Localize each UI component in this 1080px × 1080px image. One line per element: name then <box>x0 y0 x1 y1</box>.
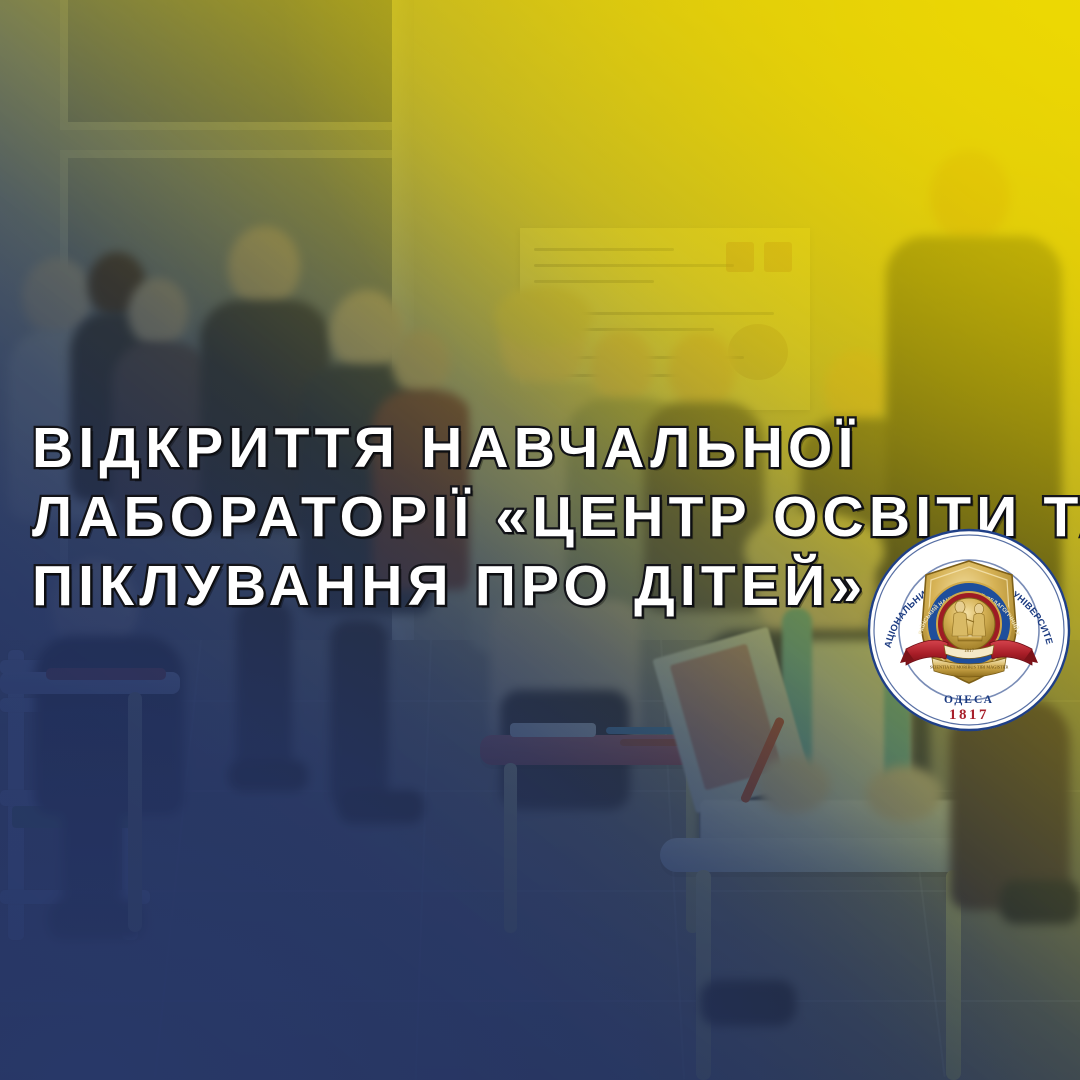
poster-canvas: ВІДКРИТТЯ НАВЧАЛЬНОЇ ЛАБОРАТОРІЇ «ЦЕНТР … <box>0 0 1080 1080</box>
emblem-motto: SCIENTIA ET MORIBUS TIBI MAGISTER <box>930 665 1009 670</box>
headline-line-1: ВІДКРИТТЯ НАВЧАЛЬНОЇ <box>32 414 1042 483</box>
emblem-year-text: 1817 <box>949 707 989 723</box>
emblem-city-text: ОДЕСА <box>944 694 994 706</box>
emblem-shield-year: 1817 <box>964 649 975 654</box>
university-emblem: ПІВДЕННОУКРАЇНСЬКИЙ НАЦІОНАЛЬНИЙ ПЕДАГОГ… <box>866 527 1072 733</box>
